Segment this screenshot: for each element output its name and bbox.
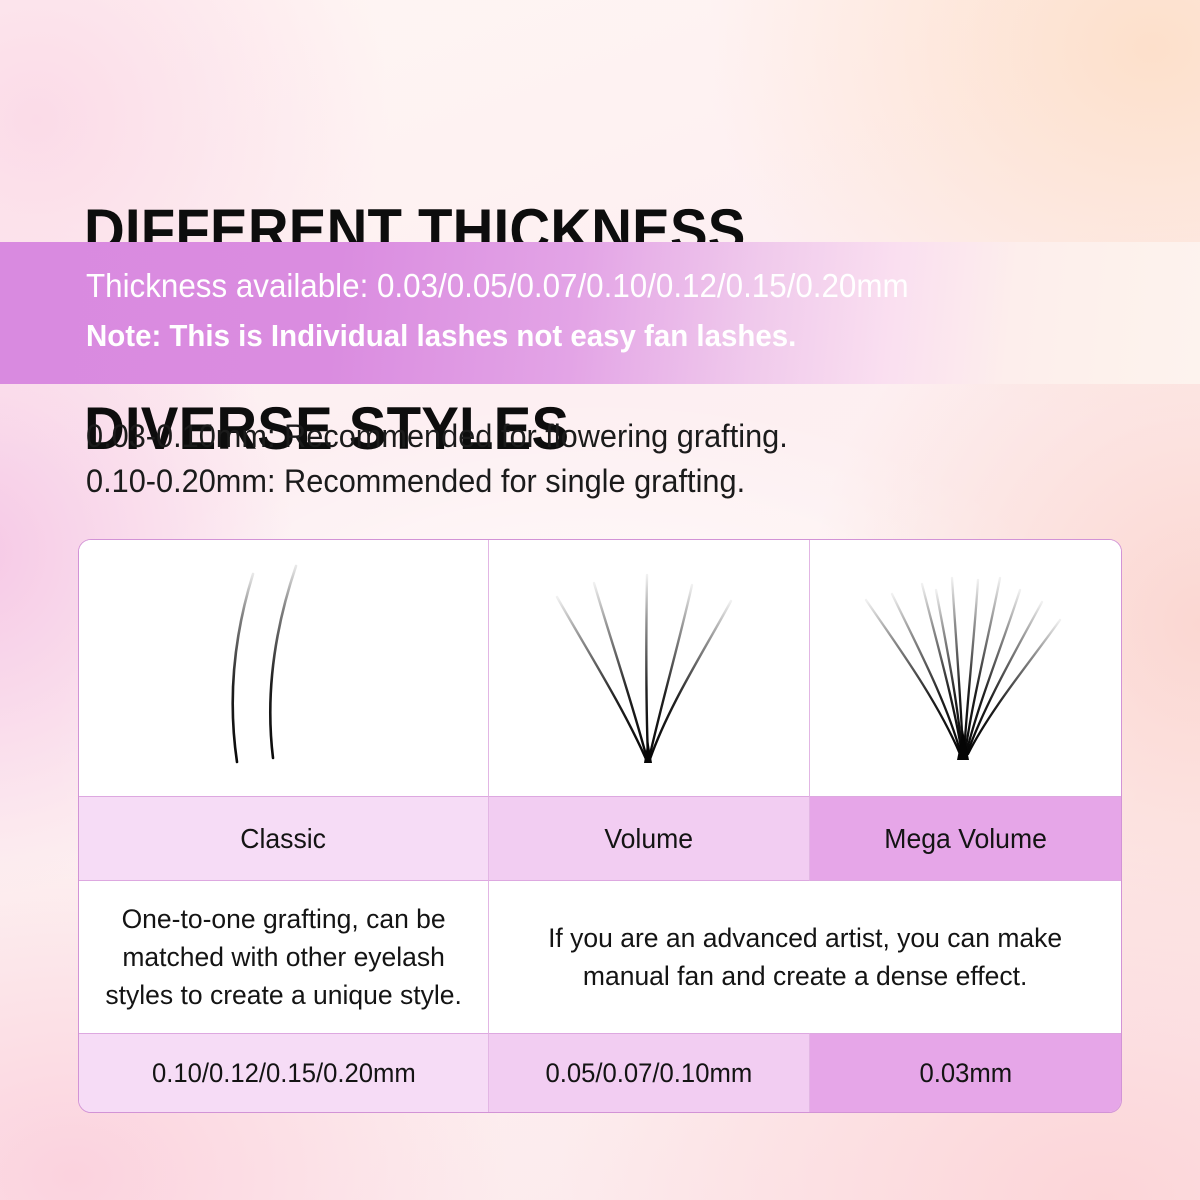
infographic-page: DIFFERENT THICKNESS DIVERSE STYLES Thick…	[0, 0, 1200, 1200]
classic-illustration-cell	[79, 540, 489, 796]
style-label-classic: Classic	[79, 796, 489, 881]
banner-note-text: Note: This is Individual lashes not easy…	[86, 318, 796, 354]
recommendation-line-2: 0.10-0.20mm: Recommended for single graf…	[86, 459, 788, 504]
description-classic: One-to-one grafting, can be matched with…	[79, 881, 489, 1033]
style-label-classic-text: Classic	[241, 823, 327, 855]
description-row: One-to-one grafting, can be matched with…	[79, 881, 1121, 1033]
thickness-volume: 0.05/0.07/0.10mm	[489, 1033, 809, 1112]
lash-style-comparison-table: Classic Volume Mega Volume One-to-one gr…	[78, 539, 1122, 1113]
style-label-row: Classic Volume Mega Volume	[79, 796, 1121, 881]
recommendation-block: 0.03-0.10mm: Recommended for flowering g…	[86, 414, 788, 504]
style-label-volume-text: Volume	[605, 823, 694, 855]
style-label-mega-volume-text: Mega Volume	[884, 823, 1047, 855]
thickness-volume-text: 0.05/0.07/0.10mm	[546, 1058, 753, 1089]
mega-volume-fan-icon	[860, 568, 1070, 768]
thickness-row: 0.10/0.12/0.15/0.20mm 0.05/0.07/0.10mm 0…	[79, 1033, 1121, 1112]
style-label-volume: Volume	[489, 796, 809, 881]
thickness-available-text: Thickness available: 0.03/0.05/0.07/0.10…	[86, 267, 909, 305]
thickness-classic-text: 0.10/0.12/0.15/0.20mm	[152, 1058, 416, 1089]
thickness-classic: 0.10/0.12/0.15/0.20mm	[79, 1033, 489, 1112]
illustration-row	[79, 540, 1121, 796]
classic-lashes-icon	[189, 558, 379, 778]
thickness-mega-volume: 0.03mm	[810, 1033, 1121, 1112]
mega-volume-illustration-cell	[810, 540, 1121, 796]
volume-illustration-cell	[489, 540, 809, 796]
recommendation-line-1: 0.03-0.10mm: Recommended for flowering g…	[86, 414, 788, 459]
volume-fan-icon	[549, 563, 749, 773]
thickness-mega-volume-text: 0.03mm	[919, 1058, 1012, 1089]
style-label-mega-volume: Mega Volume	[810, 796, 1121, 881]
thickness-banner: Thickness available: 0.03/0.05/0.07/0.10…	[0, 242, 1200, 384]
description-volume-mega: If you are an advanced artist, you can m…	[489, 881, 1121, 1033]
